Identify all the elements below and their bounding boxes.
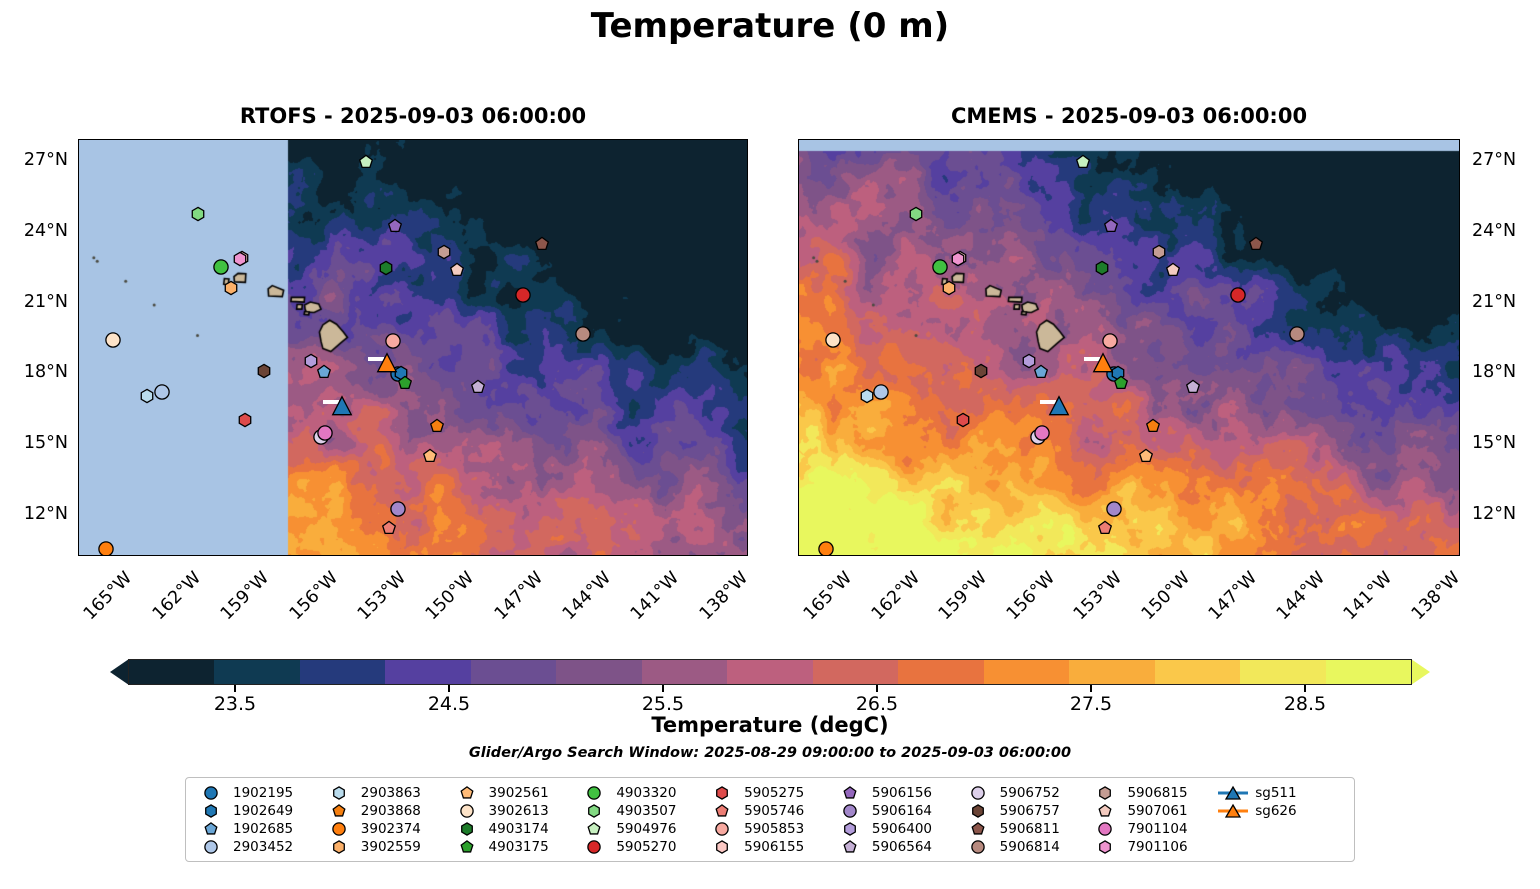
lat-tick <box>747 443 748 445</box>
lon-minor-tick <box>800 555 802 556</box>
legend-item-2903863[interactable]: 2903863 <box>324 784 452 802</box>
lat-minor-tick <box>798 266 799 268</box>
platform-marker-sg511[interactable] <box>1049 396 1070 417</box>
lat-minor-tick <box>747 337 748 339</box>
legend-marker-icon <box>452 785 482 801</box>
lon-tick <box>969 555 971 556</box>
lon-tick <box>902 139 904 140</box>
legend-marker-icon <box>963 839 993 855</box>
platform-marker-3902559[interactable] <box>223 281 238 296</box>
platform-marker-3902613[interactable] <box>825 332 841 348</box>
legend-marker-icon <box>1090 839 1120 855</box>
legend-item-4903175[interactable]: 4903175 <box>452 838 580 856</box>
lat-label: 12°N <box>1472 504 1516 524</box>
platform-marker-5906400[interactable] <box>304 354 319 369</box>
lon-tick <box>1104 555 1106 556</box>
lat-tick <box>1459 372 1460 374</box>
lon-label: 150°W <box>422 568 479 625</box>
colorbar-bands <box>128 659 1412 685</box>
platform-marker-7901106[interactable] <box>950 251 965 266</box>
platform-marker-7901106[interactable] <box>232 251 247 266</box>
lon-tick <box>1239 555 1241 556</box>
legend-item-5906156[interactable]: 5906156 <box>835 784 963 802</box>
lon-minor-tick <box>1071 139 1073 140</box>
legend-label: 5906815 <box>1127 785 1187 801</box>
lat-tick <box>798 231 799 233</box>
platform-marker-5904976[interactable] <box>359 155 374 170</box>
lon-label: 144°W <box>1272 568 1329 625</box>
platform-marker-4903174[interactable] <box>1094 261 1109 276</box>
platform-marker-5907061[interactable] <box>450 262 465 277</box>
platform-marker-2903868[interactable] <box>1145 419 1160 434</box>
legend-item-1902649[interactable]: 1902649 <box>196 802 324 820</box>
legend-item-5906564[interactable]: 5906564 <box>835 838 963 856</box>
lon-minor-tick <box>149 139 151 140</box>
legend-item-5906814[interactable]: 5906814 <box>963 838 1091 856</box>
lat-tick <box>798 372 799 374</box>
legend-item-sg626[interactable]: sg626 <box>1218 802 1346 820</box>
lat-minor-tick <box>798 478 799 480</box>
legend-marker-icon <box>1090 785 1120 801</box>
legend-marker-icon <box>835 785 865 801</box>
legend-marker-icon <box>835 821 865 837</box>
legend-label: 4903175 <box>489 839 549 855</box>
colorbar-band-11 <box>1069 660 1154 684</box>
legend-marker-icon <box>579 821 609 837</box>
colorbar-extend-min <box>110 659 129 685</box>
lon-minor-tick <box>80 139 82 140</box>
lat-tick <box>78 160 79 162</box>
lon-tick <box>1172 139 1174 140</box>
colorbar-band-3 <box>385 660 470 684</box>
map-panel-cmems[interactable] <box>798 139 1460 556</box>
platform-marker-4903175[interactable] <box>1113 375 1128 390</box>
lon-tick <box>1172 555 1174 556</box>
legend-item-5906752[interactable]: 5906752 <box>963 784 1091 802</box>
colorbar-band-0 <box>129 660 214 684</box>
platform-marker-4903320[interactable] <box>213 259 229 275</box>
lon-label: 138°W <box>695 568 752 625</box>
lon-label: 162°W <box>148 568 205 625</box>
colorbar-band-7 <box>727 660 812 684</box>
lon-minor-tick <box>1206 555 1208 556</box>
lat-tick <box>747 160 748 162</box>
lon-tick <box>662 139 664 140</box>
lon-label: 156°W <box>285 568 342 625</box>
map-panel-rtofs[interactable] <box>78 139 748 556</box>
lon-label: 156°W <box>1002 568 1059 625</box>
lon-tick <box>1307 555 1309 556</box>
colorbar-tick <box>1090 685 1092 692</box>
platform-marker-5905270[interactable] <box>1230 287 1246 303</box>
colorbar: 23.524.525.526.527.528.5 <box>110 659 1430 685</box>
legend-marker-icon <box>324 821 354 837</box>
platform-marker-7901104[interactable] <box>1034 425 1050 441</box>
lon-minor-tick <box>1003 555 1005 556</box>
colorbar-band-1 <box>214 660 299 684</box>
lon-tick <box>320 555 322 556</box>
platform-marker-2903452[interactable] <box>154 384 170 400</box>
legend-label: 5905853 <box>744 821 804 837</box>
colorbar-band-5 <box>556 660 641 684</box>
legend-marker-icon <box>963 803 993 819</box>
lon-tick <box>730 555 732 556</box>
platform-marker-sg511[interactable] <box>332 396 353 417</box>
lat-label: 15°N <box>0 433 68 453</box>
legend-label: 3902613 <box>489 803 549 819</box>
colorbar-band-4 <box>471 660 556 684</box>
colorbar-band-13 <box>1240 660 1325 684</box>
lat-tick <box>78 443 79 445</box>
platform-marker-5906164[interactable] <box>1106 501 1122 517</box>
legend-label: 3902561 <box>489 785 549 801</box>
colorbar-tick <box>662 685 664 692</box>
legend-label: 5904976 <box>616 821 676 837</box>
lon-tick <box>251 555 253 556</box>
platform-marker-5907061[interactable] <box>1165 262 1180 277</box>
search-window-text: Glider/Argo Search Window: 2025-08-29 09… <box>0 745 1540 761</box>
legend-item-5906811[interactable]: 5906811 <box>963 820 1091 838</box>
platform-marker-5906757[interactable] <box>974 363 989 378</box>
lon-minor-tick <box>627 139 629 140</box>
legend-marker-icon <box>452 803 482 819</box>
legend-marker-icon <box>196 785 226 801</box>
legend-marker-icon <box>1218 785 1248 801</box>
legend-item-5906815[interactable]: 5906815 <box>1090 784 1218 802</box>
platform-marker-4903507[interactable] <box>190 207 205 222</box>
platform-marker-5906814[interactable] <box>575 326 591 342</box>
platform-marker-5906811[interactable] <box>534 236 549 251</box>
lon-tick <box>902 555 904 556</box>
legend-marker-icon <box>452 821 482 837</box>
legend-item-5905270[interactable]: 5905270 <box>579 838 707 856</box>
lat-minor-tick <box>1459 408 1460 410</box>
colorbar-band-12 <box>1155 660 1240 684</box>
lat-tick <box>747 231 748 233</box>
platform-marker-5906400[interactable] <box>1021 354 1036 369</box>
lon-minor-tick <box>286 139 288 140</box>
legend-marker-icon <box>707 803 737 819</box>
lat-tick <box>1459 443 1460 445</box>
platform-marker-7901104[interactable] <box>317 425 333 441</box>
lon-label: 153°W <box>1070 568 1127 625</box>
legend-label: 5906400 <box>872 821 932 837</box>
legend-item-7901104[interactable]: 7901104 <box>1090 820 1218 838</box>
lat-minor-tick <box>78 337 79 339</box>
lon-minor-tick <box>696 555 698 556</box>
lat-label: 18°N <box>1472 362 1516 382</box>
legend-marker-icon <box>324 785 354 801</box>
lat-label: 15°N <box>1472 433 1516 453</box>
legend-marker-icon <box>1090 821 1120 837</box>
lat-minor-tick <box>1459 549 1460 551</box>
lon-tick <box>525 555 527 556</box>
legend-item-3902613[interactable]: 3902613 <box>452 802 580 820</box>
colorbar-tick <box>234 685 236 692</box>
platform-marker-5906164[interactable] <box>390 501 406 517</box>
lon-minor-tick <box>696 139 698 140</box>
legend-label: 1902649 <box>233 803 293 819</box>
lat-tick <box>1459 302 1460 304</box>
lon-minor-tick <box>422 139 424 140</box>
legend-label: 5906757 <box>1000 803 1060 819</box>
platform-marker-5905853[interactable] <box>385 333 401 349</box>
platform-marker-3902374[interactable] <box>98 541 114 556</box>
colorbar-tick-label: 27.5 <box>1070 693 1112 715</box>
lat-tick <box>1459 514 1460 516</box>
lon-tick <box>834 139 836 140</box>
lon-minor-tick <box>1408 139 1410 140</box>
legend-item-3902561[interactable]: 3902561 <box>452 784 580 802</box>
platform-marker-5906156[interactable] <box>387 218 402 233</box>
lon-minor-tick <box>1206 139 1208 140</box>
platform-marker-2903863[interactable] <box>859 388 874 403</box>
lon-minor-tick <box>1138 139 1140 140</box>
legend-label: 5905275 <box>744 785 804 801</box>
lat-label: 12°N <box>0 504 68 524</box>
lon-tick <box>1037 555 1039 556</box>
lon-tick <box>834 555 836 556</box>
legend-label: 2903868 <box>361 803 421 819</box>
platform-marker-5906811[interactable] <box>1249 236 1264 251</box>
lat-tick <box>78 514 79 516</box>
platform-marker-5904976[interactable] <box>1075 155 1090 170</box>
legend-item-5906400[interactable]: 5906400 <box>835 820 963 838</box>
legend-marker-icon <box>835 839 865 855</box>
lat-tick <box>747 372 748 374</box>
legend-item-5905853[interactable]: 5905853 <box>707 820 835 838</box>
lat-minor-tick <box>78 549 79 551</box>
lat-tick <box>1459 160 1460 162</box>
lon-label: 162°W <box>867 568 924 625</box>
lon-tick <box>593 555 595 556</box>
platform-marker-5905275[interactable] <box>238 413 253 428</box>
platform-marker-5906815[interactable] <box>1152 244 1167 259</box>
lon-tick <box>1307 139 1309 140</box>
panel-title-rtofs: RTOFS - 2025-09-03 06:00:00 <box>78 104 748 128</box>
legend-marker-icon <box>963 785 993 801</box>
lat-label: 24°N <box>0 221 68 241</box>
legend-marker-icon <box>707 821 737 837</box>
lon-label: 138°W <box>1408 568 1465 625</box>
platform-marker-5906156[interactable] <box>1103 218 1118 233</box>
lon-tick <box>1375 555 1377 556</box>
lon-minor-tick <box>354 555 356 556</box>
colorbar-tick <box>1304 685 1306 692</box>
lon-tick <box>115 555 117 556</box>
platform-marker-5906564[interactable] <box>1186 380 1201 395</box>
legend-marker-icon <box>579 785 609 801</box>
lat-tick <box>78 231 79 233</box>
lon-minor-tick <box>422 555 424 556</box>
lon-tick <box>115 139 117 140</box>
lat-tick <box>78 302 79 304</box>
legend-item-5905746[interactable]: 5905746 <box>707 802 835 820</box>
lon-tick <box>456 139 458 140</box>
lon-minor-tick <box>491 139 493 140</box>
lon-tick <box>388 139 390 140</box>
legend-item-3902374[interactable]: 3902374 <box>324 820 452 838</box>
platform-marker-5906814[interactable] <box>1289 326 1305 342</box>
figure-title: Temperature (0 m) <box>0 6 1540 46</box>
legend-label: 5906156 <box>872 785 932 801</box>
platform-marker-5906564[interactable] <box>470 380 485 395</box>
legend-label: sg626 <box>1255 803 1296 819</box>
legend-item-4903174[interactable]: 4903174 <box>452 820 580 838</box>
legend-item-4903507[interactable]: 4903507 <box>579 802 707 820</box>
platform-marker-3902613[interactable] <box>105 332 121 348</box>
legend-marker-icon <box>579 803 609 819</box>
platform-marker-5905275[interactable] <box>956 413 971 428</box>
lat-label: 21°N <box>1472 292 1516 312</box>
legend-label: 2903863 <box>361 785 421 801</box>
legend-item-5906155[interactable]: 5906155 <box>707 838 835 856</box>
legend-label: 4903507 <box>616 803 676 819</box>
lon-minor-tick <box>1273 139 1275 140</box>
lon-label: 165°W <box>80 568 137 625</box>
legend-item-4903320[interactable]: 4903320 <box>579 784 707 802</box>
lat-minor-tick <box>798 196 799 198</box>
legend-item-5907061[interactable]: 5907061 <box>1090 802 1218 820</box>
lon-label: 153°W <box>353 568 410 625</box>
platform-marker-3902561[interactable] <box>422 448 437 463</box>
platform-marker-5905853[interactable] <box>1102 333 1118 349</box>
legend-marker-icon <box>324 803 354 819</box>
legend-item-5906164[interactable]: 5906164 <box>835 802 963 820</box>
lat-tick <box>78 372 79 374</box>
lat-minor-tick <box>78 266 79 268</box>
lon-minor-tick <box>1341 555 1343 556</box>
lat-minor-tick <box>798 408 799 410</box>
lon-label: 159°W <box>217 568 274 625</box>
lat-tick <box>798 443 799 445</box>
legend-item-2903868[interactable]: 2903868 <box>324 802 452 820</box>
legend-item-1902195[interactable]: 1902195 <box>196 784 324 802</box>
platform-marker-5905746[interactable] <box>1098 520 1113 535</box>
colorbar-tick <box>448 685 450 692</box>
lon-tick <box>593 139 595 140</box>
legend-label: 3902374 <box>361 821 421 837</box>
legend-marker-icon <box>707 839 737 855</box>
lon-label: 141°W <box>1340 568 1397 625</box>
lat-minor-tick <box>78 408 79 410</box>
legend-label: 5907061 <box>1127 803 1187 819</box>
colorbar-band-2 <box>300 660 385 684</box>
lon-minor-tick <box>1408 555 1410 556</box>
colorbar-band-14 <box>1326 660 1411 684</box>
platform-marker-2903868[interactable] <box>429 419 444 434</box>
lat-minor-tick <box>798 337 799 339</box>
lon-minor-tick <box>868 139 870 140</box>
lon-tick <box>525 139 527 140</box>
legend-item-7901106[interactable]: 7901106 <box>1090 838 1218 856</box>
lon-tick <box>1239 139 1241 140</box>
legend-label: 3902559 <box>361 839 421 855</box>
lat-label: 27°N <box>0 150 68 170</box>
legend: 1902195190264919026852903452290386329038… <box>185 777 1355 862</box>
lon-label: 147°W <box>490 568 547 625</box>
platform-marker-4903174[interactable] <box>378 261 393 276</box>
legend-label: 5906752 <box>1000 785 1060 801</box>
lon-minor-tick <box>936 139 938 140</box>
colorbar-label: Temperature (degC) <box>0 713 1540 737</box>
platform-marker-3902559[interactable] <box>941 281 956 296</box>
lon-label: 150°W <box>1137 568 1194 625</box>
temperature-field-rtofs <box>79 140 748 556</box>
lon-tick <box>1442 139 1444 140</box>
lon-tick <box>730 139 732 140</box>
lat-minor-tick <box>1459 266 1460 268</box>
legend-marker-icon <box>835 803 865 819</box>
legend-label: sg511 <box>1255 785 1296 801</box>
platform-marker-5906815[interactable] <box>436 244 451 259</box>
legend-item-2903452[interactable]: 2903452 <box>196 838 324 856</box>
lon-minor-tick <box>80 555 82 556</box>
legend-label: 5906814 <box>1000 839 1060 855</box>
colorbar-tick-label: 24.5 <box>428 693 470 715</box>
platform-marker-5906757[interactable] <box>256 363 271 378</box>
platform-marker-2903452[interactable] <box>873 384 889 400</box>
legend-label: 1902195 <box>233 785 293 801</box>
legend-item-3902559[interactable]: 3902559 <box>324 838 452 856</box>
legend-label: 5905270 <box>616 839 676 855</box>
colorbar-tick <box>876 685 878 692</box>
lon-label: 147°W <box>1205 568 1262 625</box>
legend-label: 4903174 <box>489 821 549 837</box>
lon-minor-tick <box>217 139 219 140</box>
legend-item-5905275[interactable]: 5905275 <box>707 784 835 802</box>
legend-marker-icon <box>196 803 226 819</box>
legend-item-5904976[interactable]: 5904976 <box>579 820 707 838</box>
legend-marker-icon <box>452 839 482 855</box>
legend-item-1902685[interactable]: 1902685 <box>196 820 324 838</box>
legend-label: 1902685 <box>233 821 293 837</box>
platform-marker-sg626[interactable] <box>376 352 397 373</box>
platform-marker-3902561[interactable] <box>1138 448 1153 463</box>
colorbar-tick-label: 28.5 <box>1284 693 1326 715</box>
lon-minor-tick <box>868 555 870 556</box>
legend-label: 2903452 <box>233 839 293 855</box>
platform-marker-4903507[interactable] <box>909 207 924 222</box>
platform-marker-5905270[interactable] <box>515 287 531 303</box>
lat-label: 27°N <box>1472 150 1516 170</box>
lon-tick <box>969 139 971 140</box>
legend-label: 7901104 <box>1127 821 1187 837</box>
legend-grid: 1902195190264919026852903452290386329038… <box>196 784 1346 856</box>
lon-label: 141°W <box>627 568 684 625</box>
lat-tick <box>798 514 799 516</box>
legend-item-sg511[interactable]: sg511 <box>1218 784 1346 802</box>
lon-tick <box>1104 139 1106 140</box>
legend-label: 5905746 <box>744 803 804 819</box>
legend-marker-icon <box>1090 803 1120 819</box>
platform-marker-3902374[interactable] <box>818 541 834 556</box>
platform-marker-2903863[interactable] <box>140 388 155 403</box>
platform-marker-4903175[interactable] <box>397 375 412 390</box>
lat-label: 21°N <box>0 292 68 312</box>
lon-tick <box>183 555 185 556</box>
lon-label: 144°W <box>559 568 616 625</box>
platform-marker-sg626[interactable] <box>1092 352 1113 373</box>
legend-item-5906757[interactable]: 5906757 <box>963 802 1091 820</box>
lon-label: 165°W <box>800 568 857 625</box>
legend-label: 5906155 <box>744 839 804 855</box>
colorbar-band-6 <box>642 660 727 684</box>
lat-label: 18°N <box>0 362 68 382</box>
platform-marker-4903320[interactable] <box>932 259 948 275</box>
platform-marker-5905746[interactable] <box>381 520 396 535</box>
lon-minor-tick <box>1341 139 1343 140</box>
